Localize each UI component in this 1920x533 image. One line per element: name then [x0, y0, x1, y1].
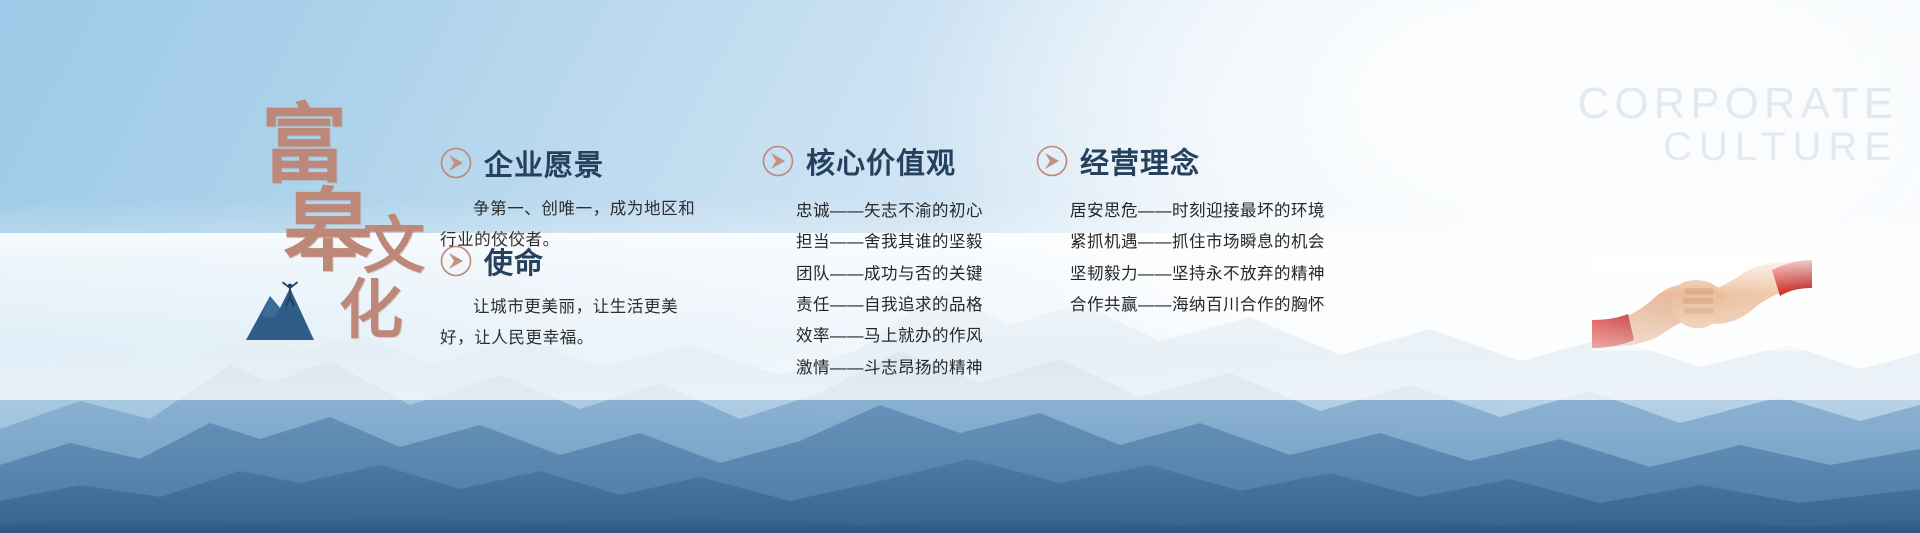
- section-business-philosophy-title: 经营理念: [1080, 140, 1200, 182]
- list-item: 居安思危——时刻迎接最坏的环境: [1070, 196, 1325, 227]
- list-item: 团队——成功与否的关键: [796, 259, 983, 290]
- list-item: 激情——斗志昂扬的精神: [796, 353, 983, 384]
- list-item: 合作共赢——海纳百川合作的胸怀: [1070, 290, 1325, 321]
- section-mission-body: 让城市更美丽，让生活更美好，让人民更幸福。: [440, 292, 708, 353]
- calligraphy-column-right: 富 皋: [261, 105, 373, 273]
- section-mission-title: 使命: [484, 240, 544, 282]
- watermark-line-1: CORPORATE: [1578, 82, 1898, 127]
- section-vision-title: 企业愿景: [484, 142, 604, 184]
- list-item: 紧抓机遇——抓住市场瞬息的机会: [1070, 227, 1325, 258]
- list-item: 坚韧毅力——坚持永不放弃的精神: [1070, 259, 1325, 290]
- watermark-line-2: CULTURE: [1578, 127, 1898, 168]
- calligraphy-char-wen: 文: [363, 217, 425, 274]
- core-values-list: 忠诚——矢志不渝的初心 担当——舍我其谁的坚毅 团队——成功与否的关键 责任——…: [762, 196, 983, 384]
- list-item: 忠诚——矢志不渝的初心: [796, 196, 983, 227]
- circle-arrow-icon: [1036, 145, 1068, 177]
- calligraphy-char-fu: 富: [261, 105, 373, 184]
- calligraphy-fugao-culture: 富 皋 文 化: [243, 105, 433, 325]
- section-vision: 企业愿景 争第一、创唯一，成为地区和行业的佼佼者。: [440, 142, 708, 255]
- section-mission: 使命 让城市更美丽，让生活更美好，让人民更幸福。: [440, 240, 708, 353]
- circle-arrow-icon: [762, 145, 794, 177]
- section-business-philosophy: 经营理念 居安思危——时刻迎接最坏的环境 紧抓机遇——抓住市场瞬息的机会 坚韧毅…: [1036, 140, 1325, 321]
- section-vision-header: 企业愿景: [440, 142, 708, 184]
- calligraphy-char-hua: 化: [339, 282, 425, 341]
- circle-arrow-icon: [440, 245, 472, 277]
- circle-arrow-icon: [440, 147, 472, 179]
- section-business-philosophy-header: 经营理念: [1036, 140, 1325, 182]
- section-core-values-title: 核心价值观: [806, 140, 956, 182]
- section-core-values: 核心价值观 忠诚——矢志不渝的初心 担当——舍我其谁的坚毅 团队——成功与否的关…: [762, 140, 983, 384]
- list-item: 担当——舍我其谁的坚毅: [796, 227, 983, 258]
- corporate-culture-watermark: CORPORATE CULTURE: [1578, 82, 1898, 168]
- section-core-values-header: 核心价值观: [762, 140, 983, 182]
- list-item: 效率——马上就办的作风: [796, 321, 983, 352]
- calligraphy-char-gao: 皋: [283, 190, 373, 273]
- section-mission-header: 使命: [440, 240, 708, 282]
- calligraphy-column-left: 文 化: [363, 217, 425, 341]
- list-item: 责任——自我追求的品格: [796, 290, 983, 321]
- business-philosophy-list: 居安思危——时刻迎接最坏的环境 紧抓机遇——抓住市场瞬息的机会 坚韧毅力——坚持…: [1036, 196, 1325, 321]
- clasped-hands-image: [1592, 256, 1812, 351]
- section-mission-text: 让城市更美丽，让生活更美好，让人民更幸福。: [440, 292, 708, 353]
- corporate-culture-banner: CORPORATE CULTURE 富 皋 文 化 企业愿景 争第一、创唯一，成…: [0, 0, 1920, 533]
